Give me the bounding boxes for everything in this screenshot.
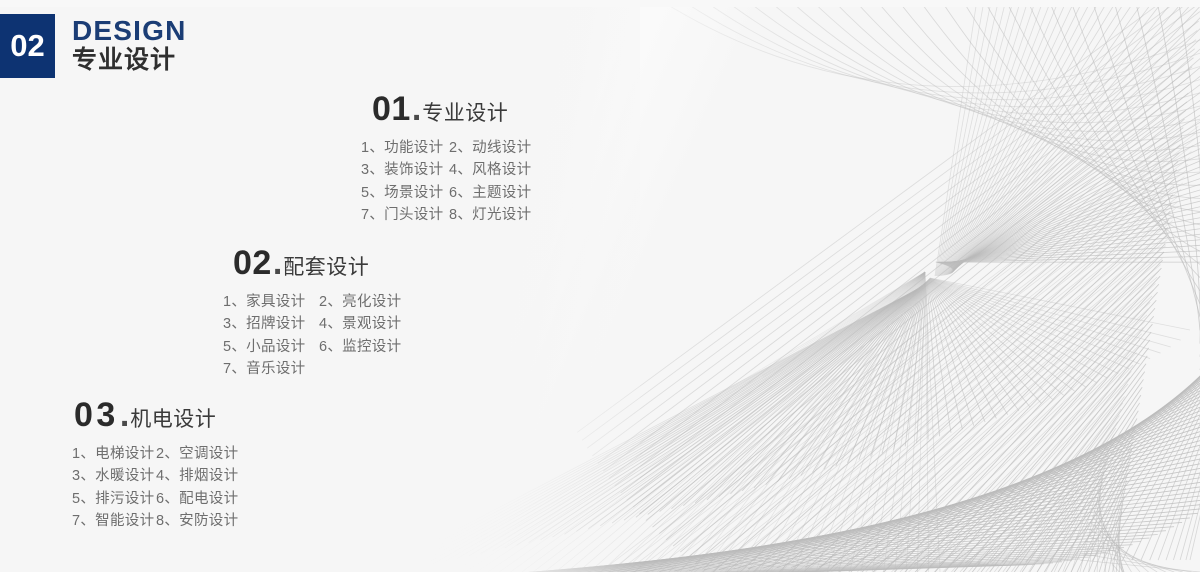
item-label: 7、智能设计 [72,510,156,532]
block-01-title: 专业设计 [422,103,508,126]
content-block-01: 01 . 专业设计 1、功能设计 2、动线设计 3、装饰设计 4、风格设计 5、… [372,92,531,227]
block-01-items: 1、功能设计 2、动线设计 3、装饰设计 4、风格设计 5、场景设计 6、主题设… [361,137,531,227]
item-label: 3、装饰设计 [361,159,449,181]
item-label: 3、招牌设计 [223,313,319,335]
block-02-dot: . [273,246,282,280]
list-item: 1、家具设计 2、亮化设计 [223,291,401,313]
block-01-number: 01 [372,92,411,126]
list-item: 3、水暖设计 4、排烟设计 [72,465,238,487]
block-02-number: 02 [233,246,272,280]
item-label: 2、动线设计 [449,137,531,159]
list-item: 5、小品设计 6、监控设计 [223,336,401,358]
list-item: 1、电梯设计 2、空调设计 [72,443,238,465]
item-label: 2、亮化设计 [319,291,401,313]
section-number-badge: 02 [0,14,55,78]
item-label: 4、景观设计 [319,313,401,335]
block-03-number: 03 [74,398,119,432]
list-item: 1、功能设计 2、动线设计 [361,137,531,159]
item-label: 6、配电设计 [156,488,238,510]
list-item: 3、装饰设计 4、风格设计 [361,159,531,181]
item-label: 4、风格设计 [449,159,531,181]
list-item: 7、智能设计 8、安防设计 [72,510,238,532]
slide-canvas: 02 DESIGN 专业设计 01 . 专业设计 1、功能设计 2、动线设计 3… [0,0,1200,572]
item-label: 6、监控设计 [319,336,401,358]
item-label: 1、电梯设计 [72,443,156,465]
item-label: 1、功能设计 [361,137,449,159]
block-03-dot: . [120,398,129,432]
item-label: 7、门头设计 [361,204,449,226]
slide-header: 02 DESIGN 专业设计 [0,14,187,78]
item-label: 7、音乐设计 [223,358,319,380]
block-02-items: 1、家具设计 2、亮化设计 3、招牌设计 4、景观设计 5、小品设计 6、监控设… [223,291,401,381]
block-03-items: 1、电梯设计 2、空调设计 3、水暖设计 4、排烟设计 5、排污设计 6、配电设… [72,443,238,533]
block-03-heading: 03 . 机电设计 [74,398,238,432]
item-label: 5、小品设计 [223,336,319,358]
header-title-chinese: 专业设计 [72,46,187,75]
header-title-english: DESIGN [72,17,187,46]
list-item: 5、场景设计 6、主题设计 [361,182,531,204]
block-02-heading: 02 . 配套设计 [233,246,401,280]
list-item: 3、招牌设计 4、景观设计 [223,313,401,335]
list-item: 7、音乐设计 [223,358,401,380]
item-label: 3、水暖设计 [72,465,156,487]
header-title-group: DESIGN 专业设计 [72,14,187,78]
block-01-heading: 01 . 专业设计 [372,92,531,126]
list-item: 5、排污设计 6、配电设计 [72,488,238,510]
item-label: 2、空调设计 [156,443,238,465]
item-label: 8、安防设计 [156,510,238,532]
block-03-title: 机电设计 [130,409,216,432]
item-label: 6、主题设计 [449,182,531,204]
list-item: 7、门头设计 8、灯光设计 [361,204,531,226]
block-01-dot: . [412,92,421,126]
item-label: 5、排污设计 [72,488,156,510]
content-block-02: 02 . 配套设计 1、家具设计 2、亮化设计 3、招牌设计 4、景观设计 5、… [233,246,401,381]
item-label: 1、家具设计 [223,291,319,313]
content-block-03: 03 . 机电设计 1、电梯设计 2、空调设计 3、水暖设计 4、排烟设计 5、… [74,398,238,533]
item-label: 5、场景设计 [361,182,449,204]
item-label: 4、排烟设计 [156,465,238,487]
block-02-title: 配套设计 [283,257,369,280]
item-label: 8、灯光设计 [449,204,531,226]
